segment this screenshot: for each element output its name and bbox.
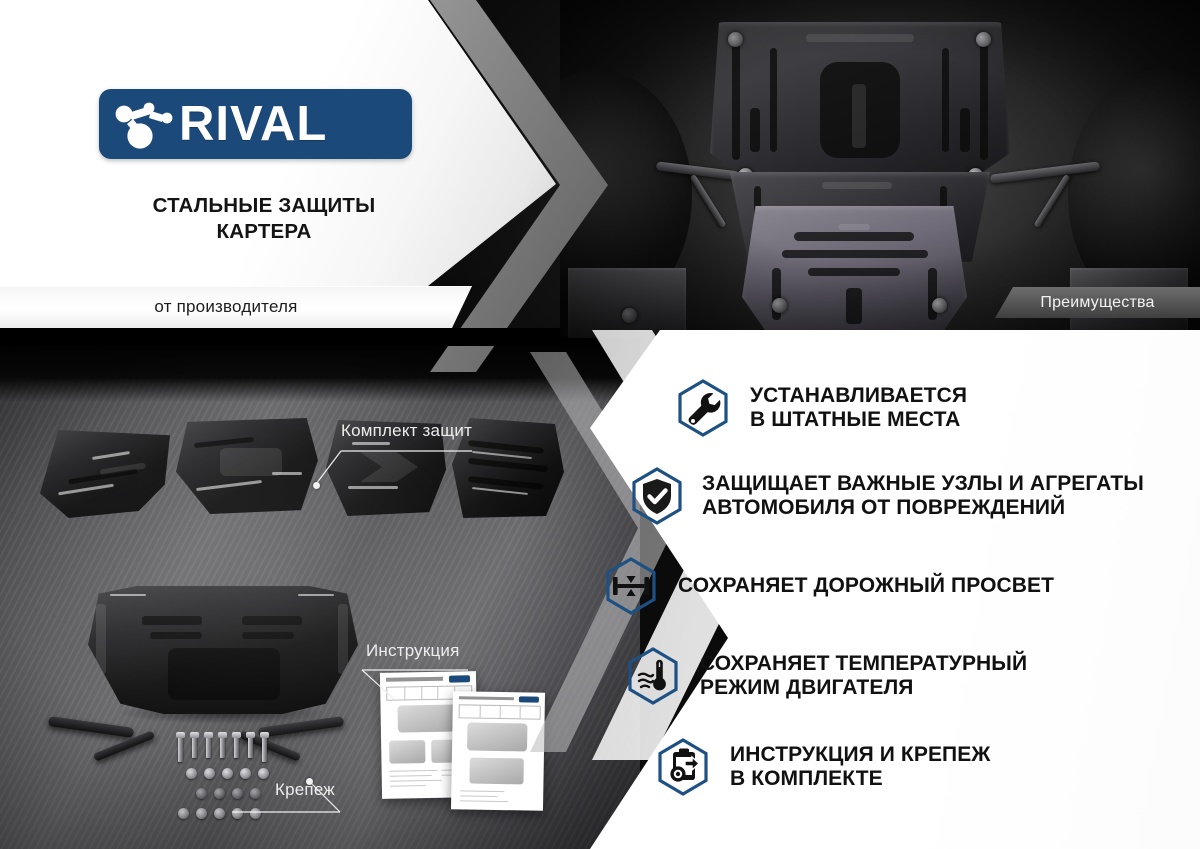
product-photo-panel [0, 338, 640, 849]
feature-text-line1: УСТАНАВЛИВАЕТСЯ [750, 384, 967, 408]
feature-item: СОХРАНЯЕТ ДОРОЖНЫЙ ПРОСВЕТ [600, 542, 1200, 630]
feature-text-line2: РЕЖИМ ДВИГАТЕЛЯ [700, 676, 1027, 700]
advantages-tab-label: Преимущества [1040, 294, 1154, 312]
callout-manual: Инструкция [366, 641, 460, 661]
callout-kit: Комплект защит [341, 421, 472, 441]
sheet-photo-1 [389, 740, 426, 763]
page-title-line1: СТАЛЬНЫЕ ЗАЩИТЫ [99, 193, 429, 219]
sheet-header-line [386, 677, 444, 682]
poster-canvas: Преимущества [0, 0, 1200, 849]
feature-text-line1: ЗАЩИЩАЕТ ВАЖНЫЕ УЗЛЫ И АГРЕГАТЫ [702, 472, 1144, 496]
sheet-diagram [398, 704, 460, 733]
molecule-icon [111, 96, 177, 152]
product-vignette [0, 338, 640, 849]
feature-text-line2: АВТОМОБИЛЯ ОТ ПОВРЕЖДЕНИЙ [702, 496, 1144, 520]
manual-hardware-icon [652, 736, 714, 798]
callout-manual-label: Инструкция [366, 641, 460, 660]
feature-text-line2: В КОМПЛЕКТЕ [730, 767, 990, 791]
feature-item: ИНСТРУКЦИЯ И КРЕПЕЖ В КОМПЛЕКТЕ [652, 722, 1200, 812]
feature-text: ИНСТРУКЦИЯ И КРЕПЕЖ В КОМПЛЕКТЕ [730, 743, 990, 791]
features-list: УСТАНАВЛИВАЕТСЯ В ШТАТНЫЕ МЕСТА ЗАЩИЩАЕТ… [600, 366, 1200, 812]
sheet-table [458, 704, 541, 719]
sheet-header-line [458, 696, 513, 700]
feature-text: СОХРАНЯЕТ ТЕМПЕРАТУРНЫЙ РЕЖИМ ДВИГАТЕЛЯ [700, 652, 1027, 700]
page-title: СТАЛЬНЫЕ ЗАЩИТЫ КАРТЕРА [99, 193, 429, 245]
feature-text-line1: СОХРАНЯЕТ ТЕМПЕРАТУРНЫЙ [700, 652, 1027, 676]
callout-kit-dot [313, 482, 320, 489]
brand-logo[interactable]: RIVAL [99, 89, 412, 159]
feature-text: СОХРАНЯЕТ ДОРОЖНЫЙ ПРОСВЕТ [678, 574, 1054, 598]
feature-text-line1: СОХРАНЯЕТ ДОРОЖНЫЙ ПРОСВЕТ [678, 574, 1054, 598]
callout-hardware-dot [306, 778, 313, 785]
feature-text: ЗАЩИЩАЕТ ВАЖНЫЕ УЗЛЫ И АГРЕГАТЫ АВТОМОБИ… [702, 472, 1144, 520]
feature-text-line1: ИНСТРУКЦИЯ И КРЕПЕЖ [730, 743, 990, 767]
brand-name: RIVAL [179, 100, 327, 149]
ground-clearance-icon [600, 555, 662, 617]
callout-kit-label: Комплект защит [341, 421, 472, 440]
feature-item: ЗАЩИЩАЕТ ВАЖНЫЕ УЗЛЫ И АГРЕГАТЫ АВТОМОБИ… [626, 450, 1200, 542]
left-black-strip [0, 328, 560, 346]
subtitle-band-text-wrap: от производителя [0, 286, 452, 328]
wrench-icon [672, 377, 734, 439]
advantages-tab[interactable]: Преимущества [995, 287, 1200, 318]
sheet-logo [519, 696, 539, 702]
feature-text: УСТАНАВЛИВАЕТСЯ В ШТАТНЫЕ МЕСТА [750, 384, 967, 432]
feature-item: УСТАНАВЛИВАЕТСЯ В ШТАТНЫЕ МЕСТА [672, 366, 1200, 450]
shield-check-icon [626, 465, 688, 527]
feature-item: СОХРАНЯЕТ ТЕМПЕРАТУРНЫЙ РЕЖИМ ДВИГАТЕЛЯ [622, 630, 1200, 722]
subtitle-band-label: от производителя [154, 297, 297, 317]
sheet-logo [449, 676, 470, 683]
callout-hardware: Крепеж [275, 780, 335, 800]
sheet-photo-1 [470, 758, 524, 785]
thermometer-icon [622, 645, 684, 707]
feature-text-line2: В ШТАТНЫЕ МЕСТА [750, 408, 967, 432]
callout-hardware-label: Крепеж [275, 780, 335, 799]
sheet-diagram [467, 722, 528, 751]
page-title-line2: КАРТЕРА [99, 219, 429, 245]
